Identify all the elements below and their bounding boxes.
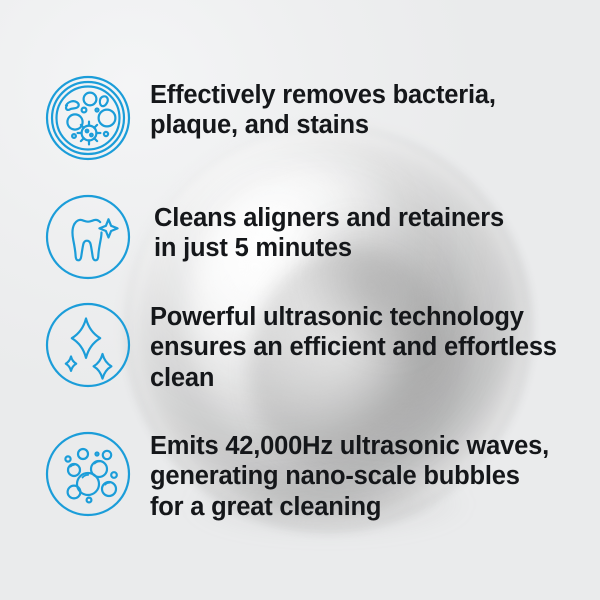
- feature-text: Cleans aligners and retainers in just 5 …: [154, 193, 586, 264]
- feature-item: Effectively removes bacteria, plaque, an…: [44, 74, 586, 162]
- feature-item: Cleans aligners and retainers in just 5 …: [44, 193, 586, 281]
- sparkling-tooth-icon: [44, 193, 132, 281]
- feature-text: Powerful ultrasonic technology ensures a…: [150, 301, 586, 393]
- sparkles-icon: [44, 301, 132, 389]
- bubbles-icon: [44, 430, 132, 518]
- petri-dish-bacteria-icon: [44, 74, 132, 162]
- feature-item: Powerful ultrasonic technology ensures a…: [44, 301, 586, 393]
- feature-list: Effectively removes bacteria, plaque, an…: [0, 0, 600, 600]
- product-feature-infographic: Effectively removes bacteria, plaque, an…: [0, 0, 600, 600]
- feature-text: Emits 42,000Hz ultrasonic waves, generat…: [150, 430, 586, 522]
- feature-item: Emits 42,000Hz ultrasonic waves, generat…: [44, 430, 586, 522]
- feature-text: Effectively removes bacteria, plaque, an…: [150, 74, 586, 141]
